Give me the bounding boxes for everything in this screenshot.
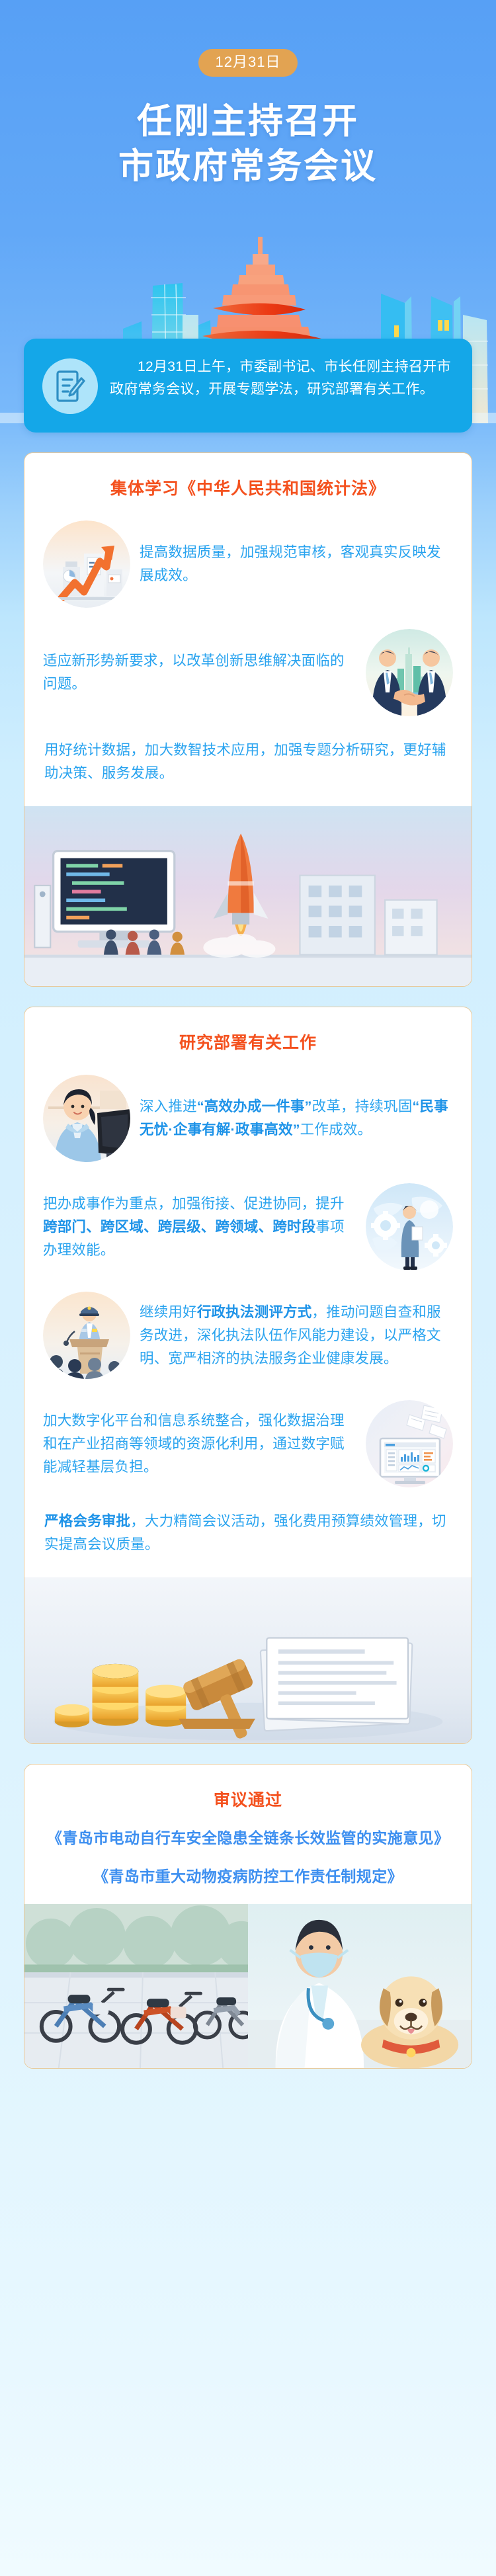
- bullet-text: 加大数字化平台和信息系统整合，强化数据治理和在产业招商等领域的资源化利用，通过数…: [43, 1409, 356, 1478]
- card-work-deployment-title: 研究部署有关工作: [43, 1030, 453, 1054]
- infographic-page: 12月31日 任刚主持召开 市政府常务会议: [0, 0, 496, 2576]
- bullet-item: 继续用好行政执法测评方式，推动问题自查和服务改进，深化执法队伍作风能力建设，以严…: [43, 1281, 453, 1390]
- veterinarian-with-dog-photo: [248, 1904, 472, 2069]
- bullet-text: 严格会务审批，大力精简会议活动，强化费用预算绩效管理，切实提高会议质量。: [44, 1510, 452, 1556]
- globe-gears-man-icon: [366, 1183, 453, 1270]
- card-approved-documents-title: 审议通过: [43, 1787, 453, 1811]
- woman-at-computer-icon: [43, 1075, 130, 1162]
- approved-document-title: 《青岛市电动自行车安全隐患全链条长效监管的实施意见》: [47, 1827, 449, 1850]
- bullet-item: 用好统计数据，加大数智技术应用，加强专题分析研究，更好辅助决策、服务发展。: [43, 727, 453, 797]
- card-approved-documents: 审议通过 《青岛市电动自行车安全隐患全链条长效监管的实施意见》 《青岛市重大动物…: [24, 1764, 472, 2069]
- document-pencil-glyph: [55, 369, 85, 403]
- bullet-text-emphasis: 严格会务审批: [44, 1513, 130, 1529]
- bullet-text: 适应新形势新要求，以改革创新思维解决面临的问题。: [43, 649, 356, 696]
- bullet-text-pre: 加大数字化平台和信息系统整合，强化数据治理和在产业招商等领域的资源化利用，通过数…: [43, 1413, 345, 1475]
- police-officer-podium-icon: [43, 1292, 130, 1379]
- bullet-text: 继续用好行政执法测评方式，推动问题自查和服务改进，深化执法队伍作风能力建设，以严…: [140, 1301, 453, 1370]
- page-title: 任刚主持召开 市政府常务会议: [0, 99, 496, 189]
- page-title-line-1: 任刚主持召开: [0, 99, 496, 144]
- gavel-coins-documents-illustration: [24, 1577, 472, 1743]
- bullet-item: 深入推进“高效办成一件事”改革，持续巩固“民事无忧·企事有解·政事高效”工作成效…: [43, 1064, 453, 1173]
- desktop-dashboard-icon: [366, 1400, 453, 1487]
- card-work-deployment: 研究部署有关工作: [24, 1007, 472, 1743]
- computer-rocket-launch-illustration: [24, 806, 472, 987]
- document-pencil-icon: [42, 358, 98, 414]
- page-bottom-spacer: [0, 2069, 496, 2095]
- page-title-line-2: 市政府常务会议: [0, 144, 496, 189]
- bullet-text-post: 工作成效。: [300, 1122, 372, 1138]
- bullet-item: 把办成事作为重点，加强衔接、促进协同，提升跨部门、跨区域、跨层级、跨领域、跨时段…: [43, 1173, 453, 1281]
- intro-text: 12月31日上午，市委副书记、市长任刚主持召开市政府常务会议，开展专题学法，研究…: [110, 356, 454, 401]
- bullet-text-pre: 把办成事作为重点，加强衔接、促进协同，提升: [43, 1196, 345, 1212]
- intro-summary-card: 12月31日上午，市委副书记、市长任刚主持召开市政府常务会议，开展专题学法，研究…: [24, 339, 472, 433]
- bullet-text-pre: 继续用好: [140, 1304, 197, 1320]
- growth-arrow-chart-icon: [43, 520, 130, 608]
- bullet-text: 用好统计数据，加大数智技术应用，加强专题分析研究，更好辅助决策、服务发展。: [44, 739, 452, 785]
- bullet-text-mid: 改革，持续巩固: [312, 1099, 413, 1114]
- card-study-session: 集体学习《中华人民共和国统计法》: [24, 452, 472, 987]
- bullet-text: 提高数据质量，加强规范审核，客观真实反映发展成效。: [140, 541, 453, 587]
- bullet-text-emphasis: “高效办成一件事”: [197, 1099, 312, 1114]
- bullet-item: 提高数据质量，加强规范审核，客观真实反映发展成效。: [43, 510, 453, 618]
- bullet-text: 深入推进“高效办成一件事”改革，持续巩固“民事无忧·企事有解·政事高效”工作成效…: [140, 1095, 453, 1142]
- document-stack: [261, 1638, 413, 1731]
- approved-document-title: 《青岛市重大动物疫病防控工作责任制规定》: [47, 1865, 449, 1888]
- electric-bicycles-parked-photo: [24, 1904, 248, 2069]
- bullet-item: 适应新形势新要求，以改革创新思维解决面临的问题。: [43, 618, 453, 727]
- bullet-text: 把办成事作为重点，加强衔接、促进协同，提升跨部门、跨区域、跨层级、跨领域、跨时段…: [43, 1192, 356, 1261]
- bullet-item: 加大数字化平台和信息系统整合，强化数据治理和在产业招商等领域的资源化利用，通过数…: [43, 1390, 453, 1498]
- bullet-text-emphasis: 跨部门、跨区域、跨层级、跨领域、跨时段: [43, 1219, 315, 1235]
- bullet-text-emphasis: 行政执法测评方式: [197, 1304, 312, 1320]
- photo-row: [24, 1904, 472, 2069]
- date-badge: 12月31日: [198, 49, 298, 77]
- card-study-session-title: 集体学习《中华人民共和国统计法》: [43, 476, 453, 499]
- handshake-businessmen-icon: [366, 629, 453, 716]
- bullet-item: 严格会务审批，大力精简会议活动，强化费用预算绩效管理，切实提高会议质量。: [43, 1498, 453, 1568]
- bullet-text-pre: 深入推进: [140, 1099, 197, 1114]
